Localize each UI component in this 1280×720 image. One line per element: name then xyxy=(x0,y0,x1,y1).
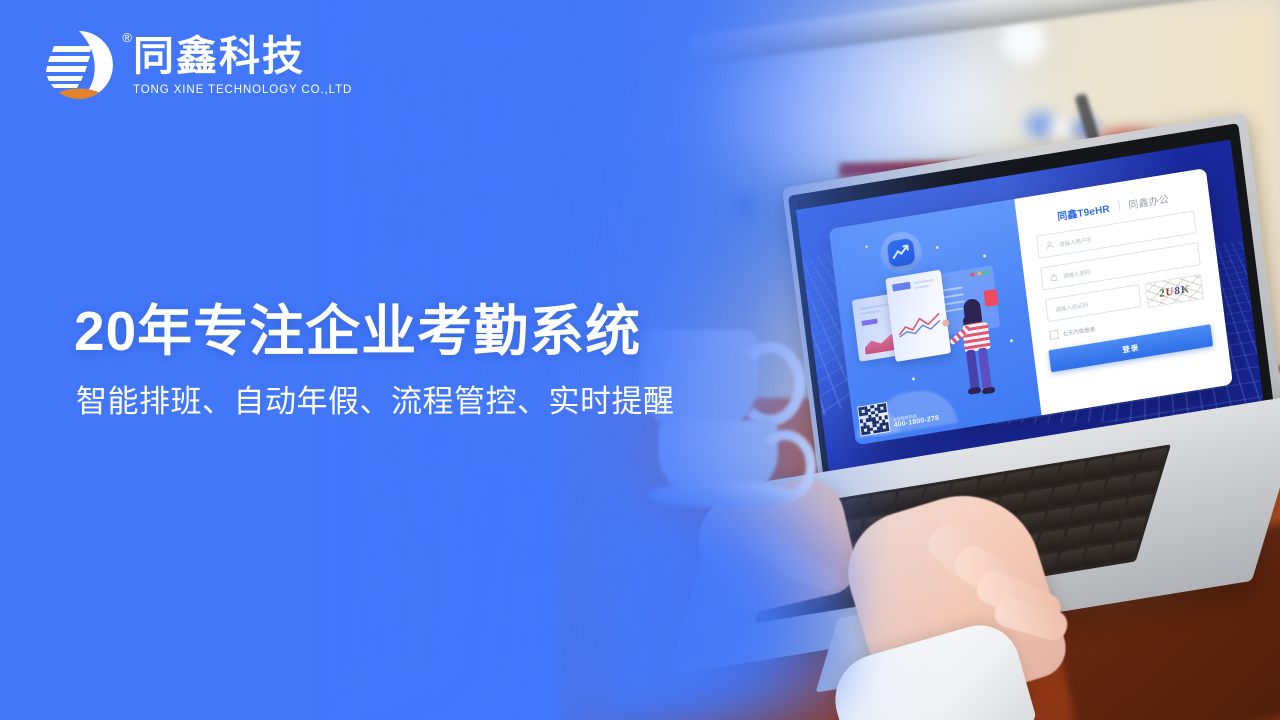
registered-trademark-icon: ® xyxy=(122,30,132,45)
tongxin-sail-circle-icon: ® xyxy=(40,26,118,104)
hero-subheadline: 智能排班、自动年假、流程管控、实时提醒 xyxy=(76,383,675,420)
company-logo[interactable]: ® 同鑫科技 TONG XINE TECHNOLOGY CO.,LTD xyxy=(40,26,352,104)
blue-gradient-bottom xyxy=(600,470,860,720)
logo-wordmark: 同鑫科技 TONG XINE TECHNOLOGY CO.,LTD xyxy=(133,34,352,96)
hero-headline: 20年专注企业考勤系统 xyxy=(74,302,641,361)
company-name-cn: 同鑫科技 xyxy=(133,36,352,77)
promo-banner: 全国服务热线 400-1800-278 同鑫T9eHR 同鑫办公 xyxy=(0,0,1280,720)
company-name-en: TONG XINE TECHNOLOGY CO.,LTD xyxy=(133,84,352,96)
